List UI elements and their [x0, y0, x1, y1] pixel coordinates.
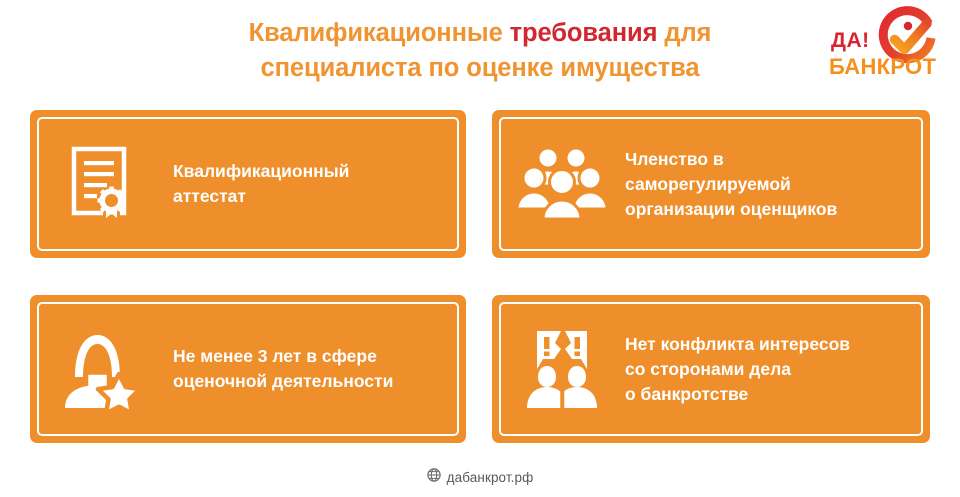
globe-icon	[427, 468, 441, 487]
card-inner-border: Нет конфликта интересов со сторонами дел…	[499, 302, 923, 436]
requirement-card-sro-membership[interactable]: Членство в саморегулируемой организации …	[492, 110, 930, 258]
page-title-line-1: Квалификационные требования для	[140, 16, 820, 51]
brand-logo[interactable]: ДА! БАНКРОТ	[826, 6, 950, 86]
card-inner-border: Квалификационный аттестат	[37, 117, 459, 251]
requirement-card-experience[interactable]: Не менее 3 лет в сфере оценочной деятель…	[30, 295, 466, 443]
people-group-icon	[501, 134, 623, 234]
page-title-seg-2: требования	[510, 19, 658, 47]
card-inner-border: Не менее 3 лет в сфере оценочной деятель…	[37, 302, 459, 436]
footer-website-url[interactable]: дабанкрот.рф	[447, 470, 534, 485]
requirement-card-no-conflict[interactable]: Нет конфликта интересов со сторонами дел…	[492, 295, 930, 443]
header: Квалификационные требования для специали…	[0, 0, 960, 96]
card-label: Квалификационный аттестат	[173, 159, 349, 209]
logo-word-da: ДА!	[831, 29, 870, 53]
footer: дабанкрот.рф	[0, 462, 960, 492]
card-inner-border: Членство в саморегулируемой организации …	[499, 117, 923, 251]
page-title-line-2: специалиста по оценке имущества	[140, 51, 820, 86]
page-title-seg-3: для	[657, 19, 711, 47]
page-title-seg-1: Квалификационные	[249, 19, 510, 47]
person-star-icon	[39, 319, 167, 419]
page-title: Квалификационные требования для специали…	[140, 16, 820, 86]
card-label: Не менее 3 лет в сфере оценочной деятель…	[173, 344, 393, 394]
conflict-people-icon	[501, 319, 623, 419]
card-label: Нет конфликта интересов со сторонами дел…	[625, 332, 850, 407]
certificate-icon	[39, 134, 167, 234]
logo-word-bankrot: БАНКРОТ	[829, 54, 936, 80]
requirement-card-certificate[interactable]: Квалификационный аттестат	[30, 110, 466, 258]
card-label: Членство в саморегулируемой организации …	[625, 147, 837, 222]
